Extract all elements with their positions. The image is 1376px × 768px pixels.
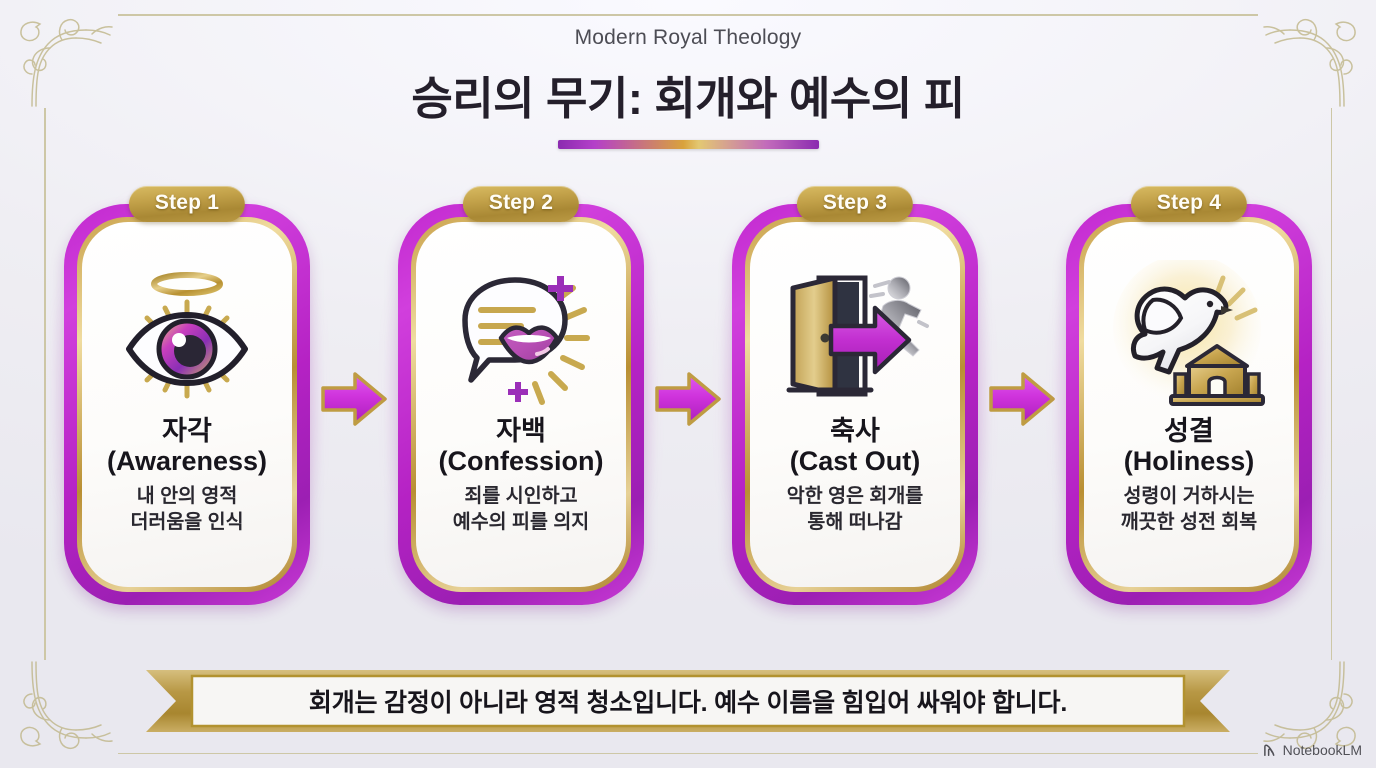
arrow-step1-to-step2 (325, 186, 383, 611)
footer-banner: 회개는 감정이 아니라 영적 청소입니다. 예수 이름을 힘입어 싸워야 합니다… (146, 668, 1230, 734)
notebooklm-watermark: NotebookLM (1263, 742, 1362, 758)
card-magenta-border: 자각 (Awareness) 내 안의 영적 더러움을 인식 (64, 204, 310, 605)
card-title: 축사 (Cast Out) (790, 416, 921, 476)
title-underline-bar (558, 140, 819, 149)
step-badge: Step 1 (129, 186, 245, 222)
card-gold-border: 성결 (Holiness) 성령이 거하시는 깨끗한 성전 회복 (1079, 217, 1299, 592)
card-title-en: (Cast Out) (790, 446, 921, 476)
card-title: 자각 (Awareness) (107, 416, 267, 476)
watermark-label: NotebookLM (1283, 742, 1362, 758)
card-description: 악한 영은 회개를 통해 떠나감 (787, 484, 923, 535)
step-badge: Step 2 (463, 186, 579, 222)
step-card-3[interactable]: 축사 (Cast Out) 악한 영은 회개를 통해 떠나감 Step 3 (732, 186, 978, 611)
card-desc-line-2: 통해 떠나감 (787, 510, 923, 535)
card-description: 죄를 시인하고 예수의 피를 의지 (453, 484, 589, 535)
eye-halo-icon (111, 260, 263, 412)
card-body: 축사 (Cast Out) 악한 영은 회개를 통해 떠나감 (750, 222, 960, 587)
arrow-step3-to-step4 (993, 186, 1051, 611)
step-card-4[interactable]: 성결 (Holiness) 성령이 거하시는 깨끗한 성전 회복 Step 4 (1066, 186, 1312, 611)
card-description: 내 안의 영적 더러움을 인식 (130, 484, 243, 535)
card-title-en: (Confession) (439, 446, 604, 476)
arrow-step2-to-step3 (659, 186, 717, 611)
card-title-ko: 자백 (496, 416, 546, 446)
card-magenta-border: 자백 (Confession) 죄를 시인하고 예수의 피를 의지 (398, 204, 644, 605)
card-title-ko: 자각 (162, 416, 212, 446)
card-gold-border: 축사 (Cast Out) 악한 영은 회개를 통해 떠나감 (745, 217, 965, 592)
card-gold-border: 자각 (Awareness) 내 안의 영적 더러움을 인식 (77, 217, 297, 592)
card-description: 성령이 거하시는 깨끗한 성전 회복 (1121, 484, 1257, 535)
card-desc-line-1: 내 안의 영적 (130, 484, 243, 509)
card-desc-line-2: 더러움을 인식 (130, 510, 243, 535)
card-desc-line-2: 예수의 피를 의지 (453, 510, 589, 535)
speech-bubble-lips-icon (445, 260, 597, 412)
card-title: 성결 (Holiness) (1124, 416, 1255, 476)
card-magenta-border: 성결 (Holiness) 성령이 거하시는 깨끗한 성전 회복 (1066, 204, 1312, 605)
open-door-running-figure-icon (779, 260, 931, 412)
card-title-en: (Holiness) (1124, 446, 1255, 476)
step-card-2[interactable]: 자백 (Confession) 죄를 시인하고 예수의 피를 의지 Step 2 (398, 186, 644, 611)
card-title-ko: 축사 (830, 416, 880, 446)
card-desc-line-1: 악한 영은 회개를 (787, 484, 923, 509)
card-magenta-border: 축사 (Cast Out) 악한 영은 회개를 통해 떠나감 (732, 204, 978, 605)
card-desc-line-1: 죄를 시인하고 (453, 484, 589, 509)
card-body: 자각 (Awareness) 내 안의 영적 더러움을 인식 (82, 222, 292, 587)
steps-flow: 자각 (Awareness) 내 안의 영적 더러움을 인식 Step 1 (64, 186, 1312, 618)
header: Modern Royal Theology 승리의 무기: 회개와 예수의 피 (0, 0, 1376, 168)
notebooklm-logo-icon (1263, 743, 1278, 758)
card-desc-line-2: 깨끗한 성전 회복 (1121, 510, 1257, 535)
step-badge: Step 3 (797, 186, 913, 222)
card-title: 자백 (Confession) (439, 416, 604, 476)
step-card-1[interactable]: 자각 (Awareness) 내 안의 영적 더러움을 인식 Step 1 (64, 186, 310, 611)
card-body: 자백 (Confession) 죄를 시인하고 예수의 피를 의지 (416, 222, 626, 587)
page-title: 승리의 무기: 회개와 예수의 피 (0, 62, 1376, 127)
card-title-en: (Awareness) (107, 446, 267, 476)
card-title-ko: 성결 (1164, 416, 1214, 446)
card-desc-line-1: 성령이 거하시는 (1121, 484, 1257, 509)
footer-text: 회개는 감정이 아니라 영적 청소입니다. 예수 이름을 힘입어 싸워야 합니다… (146, 668, 1230, 734)
dove-temple-icon (1113, 260, 1265, 412)
card-gold-border: 자백 (Confession) 죄를 시인하고 예수의 피를 의지 (411, 217, 631, 592)
eyebrow-subtitle: Modern Royal Theology (0, 26, 1376, 50)
step-badge: Step 4 (1131, 186, 1247, 222)
card-body: 성결 (Holiness) 성령이 거하시는 깨끗한 성전 회복 (1084, 222, 1294, 587)
